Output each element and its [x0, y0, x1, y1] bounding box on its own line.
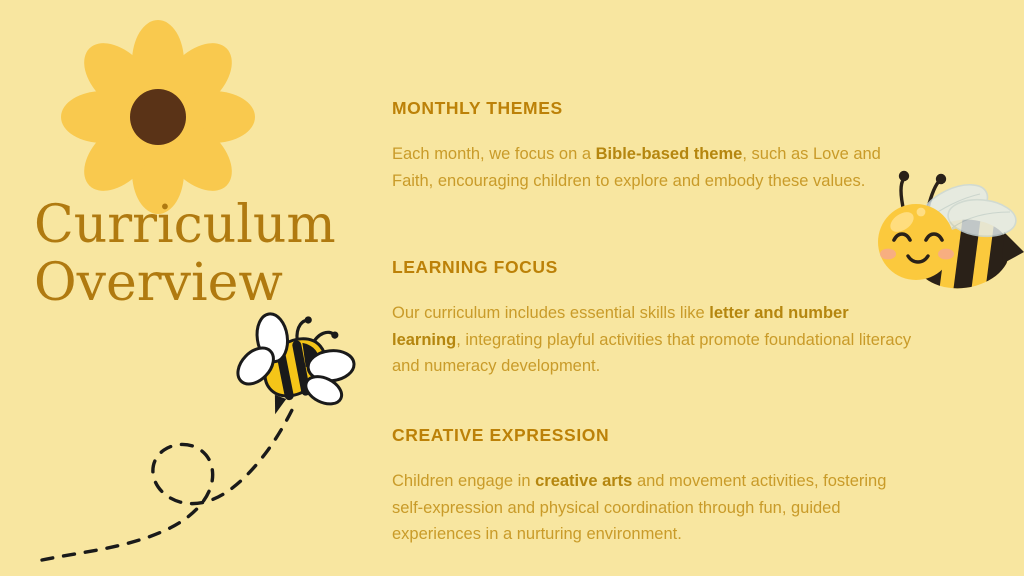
- bee-icon: [232, 312, 364, 416]
- happy-bee-icon: [858, 168, 1024, 300]
- left-column: Curriculum Overview: [0, 0, 380, 576]
- section-heading: LEARNING FOCUS: [392, 257, 920, 278]
- page-title-line-2: Overview: [34, 254, 364, 312]
- sunflower-icon: [58, 22, 258, 212]
- section-body: Children engage in creative arts and mov…: [392, 468, 920, 548]
- section-monthly-themes: MONTHLY THEMES Each month, we focus on a…: [392, 98, 920, 194]
- section-heading: MONTHLY THEMES: [392, 98, 920, 119]
- section-learning-focus: LEARNING FOCUS Our curriculum includes e…: [392, 257, 920, 380]
- section-body: Our curriculum includes essential skills…: [392, 300, 920, 380]
- section-creative-expression: CREATIVE EXPRESSION Children engage in c…: [392, 425, 920, 548]
- section-heading: CREATIVE EXPRESSION: [392, 425, 920, 446]
- page-title: Curriculum Overview: [34, 196, 364, 312]
- slide-canvas: Curriculum Overview: [0, 0, 1024, 576]
- page-title-line-1: Curriculum: [34, 196, 364, 254]
- section-body: Each month, we focus on a Bible-based th…: [392, 141, 920, 194]
